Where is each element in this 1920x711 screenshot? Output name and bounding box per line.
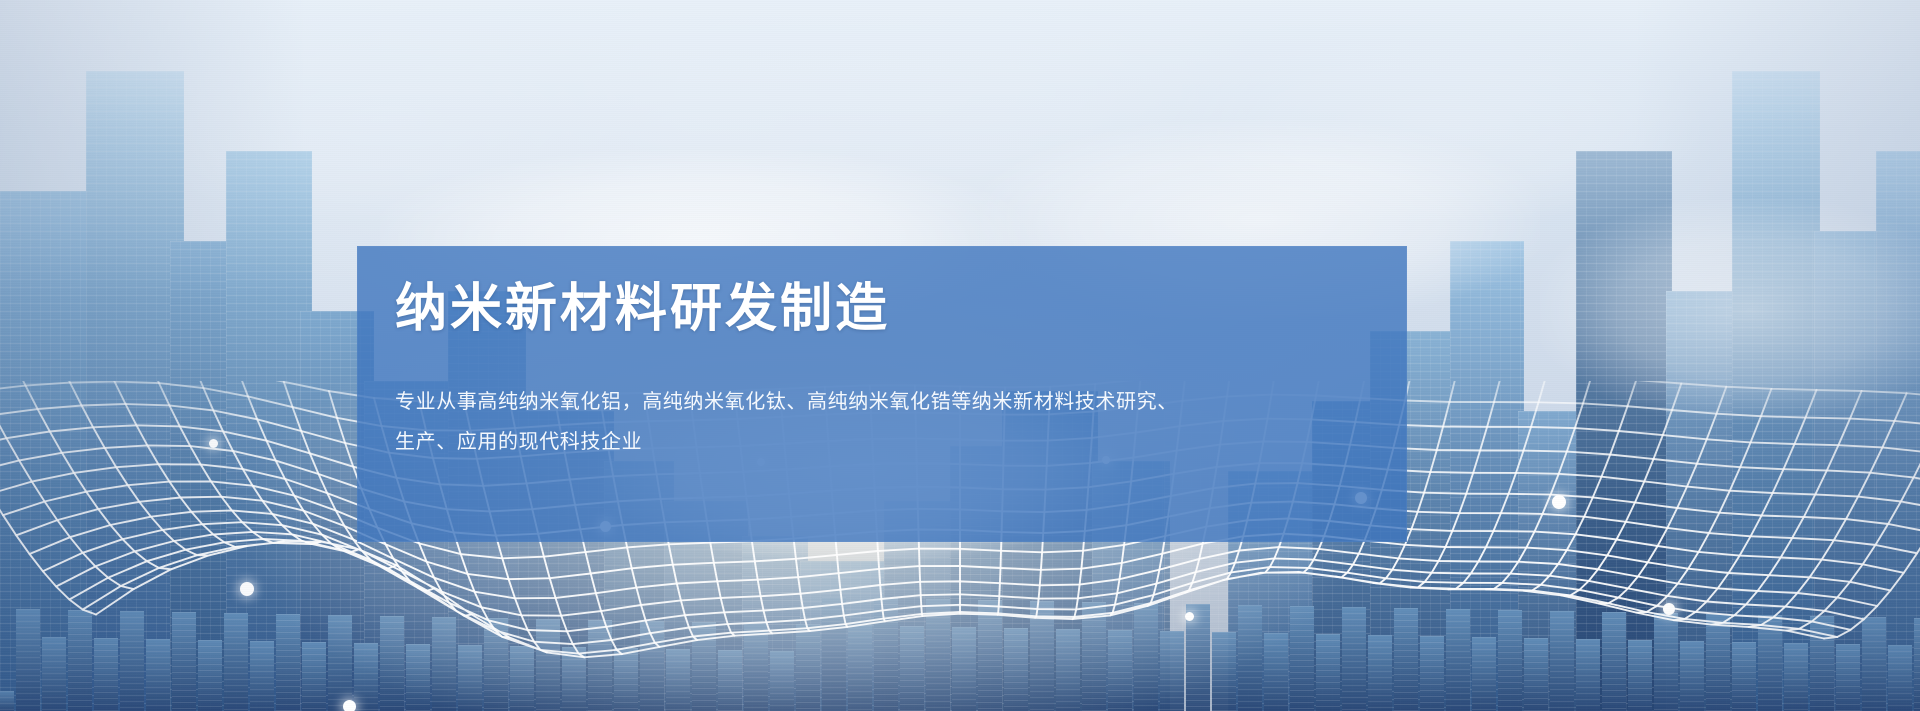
network-node-dot bbox=[1663, 603, 1675, 615]
page-title: 纳米新材料研发制造 bbox=[395, 280, 1377, 340]
hero-content-panel: 纳米新材料研发制造 专业从事高纯纳米氧化铝，高纯纳米氧化钛、高纯纳米氧化锆等纳米… bbox=[357, 246, 1407, 542]
network-node-dot bbox=[209, 439, 218, 448]
hero-subtitle-line-2: 生产、应用的现代科技企业 bbox=[395, 422, 1377, 462]
hero-subtitle: 专业从事高纯纳米氧化铝，高纯纳米氧化钛、高纯纳米氧化锆等纳米新材料技术研究、 生… bbox=[395, 382, 1377, 462]
hero-subtitle-line-1: 专业从事高纯纳米氧化铝，高纯纳米氧化钛、高纯纳米氧化锆等纳米新材料技术研究、 bbox=[395, 382, 1377, 422]
network-node-dot bbox=[1185, 612, 1194, 621]
network-node-dot bbox=[240, 582, 254, 596]
network-node-dot bbox=[1552, 495, 1566, 509]
hero-banner: 纳米新材料研发制造 专业从事高纯纳米氧化铝，高纯纳米氧化钛、高纯纳米氧化锆等纳米… bbox=[0, 0, 1920, 711]
network-node-dot bbox=[343, 700, 356, 711]
